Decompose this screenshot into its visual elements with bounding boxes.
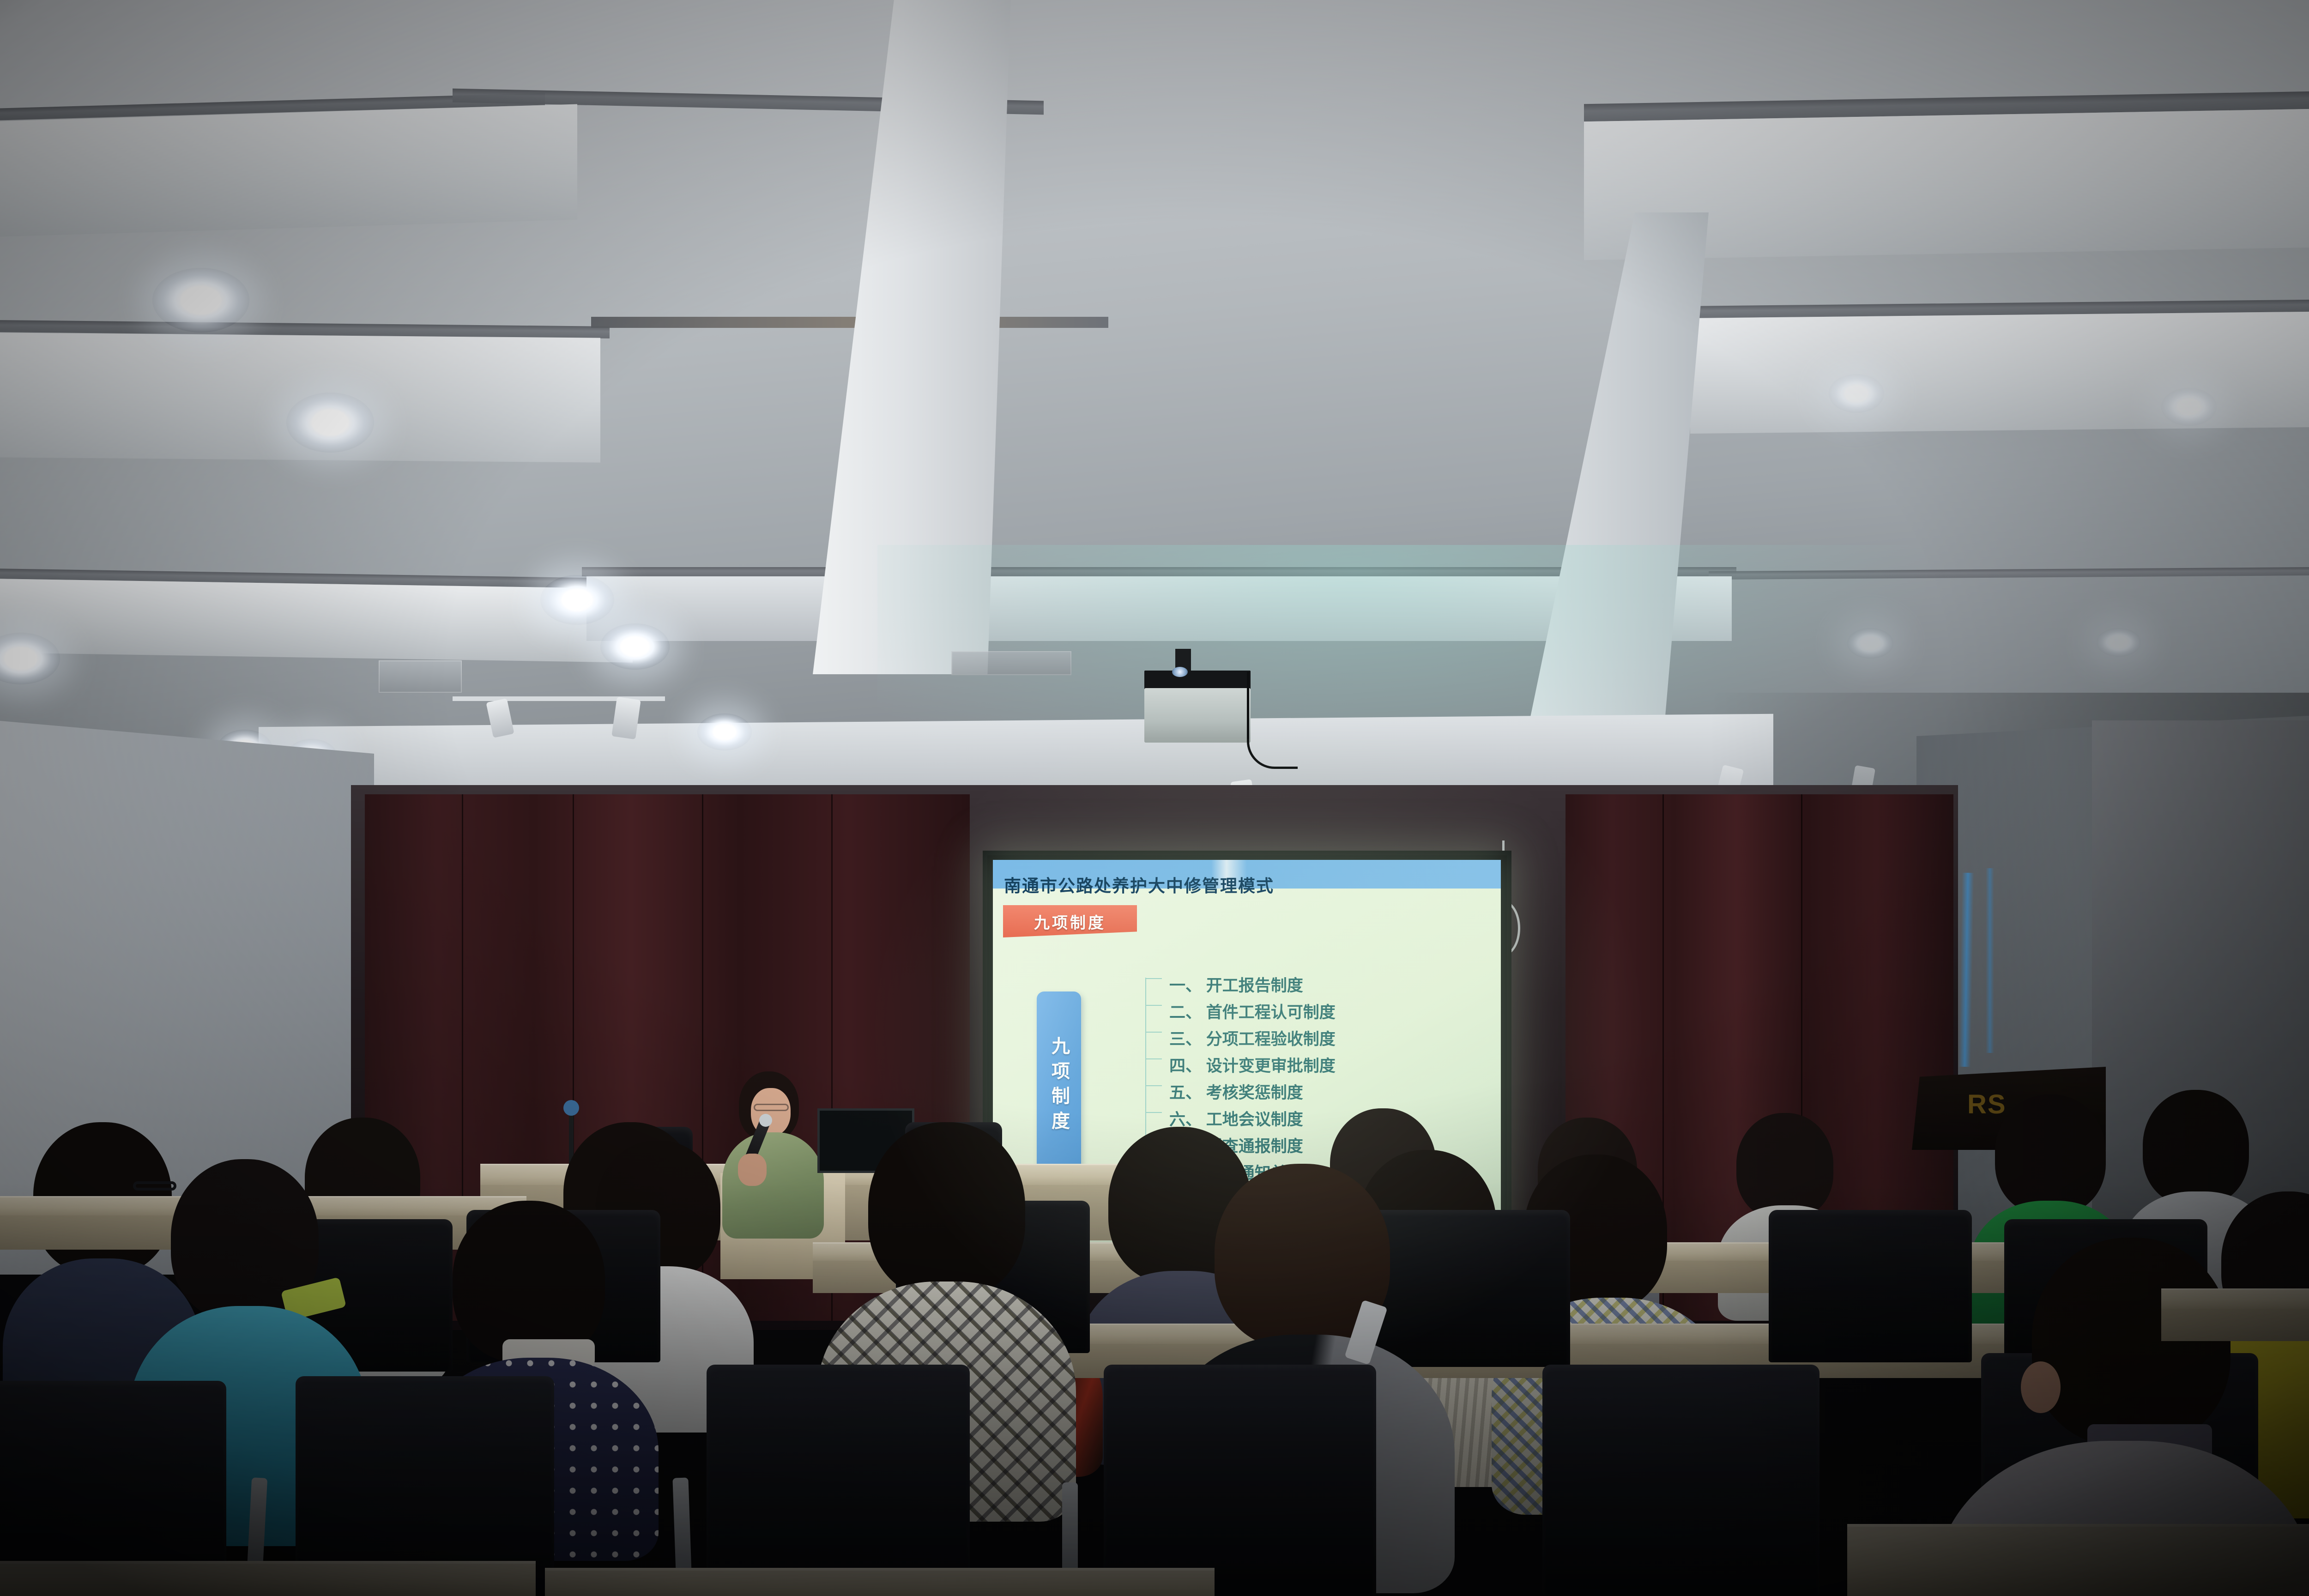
list-tick-icon — [1145, 1085, 1162, 1097]
slide-banner-label: 九项制度 — [1034, 910, 1106, 933]
presenter-glasses — [754, 1104, 789, 1111]
presenter-torso — [722, 1132, 824, 1239]
slide-list-item: 三、 分项工程验收制度 — [1145, 1024, 1487, 1051]
head — [2143, 1090, 2249, 1205]
list-tick-icon — [1145, 1058, 1162, 1070]
mid-desk-right-front — [2161, 1309, 2309, 1341]
foreground-desk-right — [1847, 1524, 2309, 1596]
glasses-icon — [133, 1181, 176, 1191]
mid-desk-right — [2161, 1288, 2309, 1309]
ceiling-beam-c — [0, 579, 633, 663]
list-tick-icon — [1145, 1112, 1162, 1124]
foreground-chair-5 — [1542, 1365, 1819, 1596]
ceiling-air-vent-2 — [951, 651, 1071, 675]
head — [1995, 1094, 2106, 1215]
list-tick-icon — [1145, 978, 1162, 990]
foreground-desk-left — [0, 1561, 536, 1596]
slide-list-item-text: 五、 考核奖惩制度 — [1169, 1080, 1303, 1103]
audience-chair-m4 — [1367, 1210, 1570, 1367]
slide-side-label-box: 九项制度 — [1037, 991, 1081, 1181]
foreground-desk-center — [545, 1568, 1215, 1596]
slide-list-item-text: 四、 设计变更审批制度 — [1169, 1053, 1336, 1076]
speaker-brand-label: RS — [1967, 1089, 2007, 1120]
projector-cable — [1247, 672, 1298, 769]
head — [2032, 1238, 2230, 1445]
slide-list-item: 六、 工地会议制度 — [1145, 1105, 1487, 1131]
head — [1736, 1113, 1833, 1219]
presenter-hand — [738, 1154, 767, 1186]
slide-list-item-text: 一、 开工报告制度 — [1169, 973, 1303, 996]
downlight-2 — [286, 393, 374, 453]
microphone-head-icon — [759, 1114, 772, 1127]
slide-list-item-text: 二、 首件工程认可制度 — [1169, 999, 1336, 1023]
slide-list-item-text: 六、 工地会议制度 — [1169, 1106, 1303, 1130]
slide-side-label: 九项制度 — [1046, 1036, 1072, 1136]
foreground-chair-4 — [1104, 1365, 1376, 1596]
slide-banner: 九项制度 — [1003, 905, 1137, 937]
slide-list-item: 四、 设计变更审批制度 — [1145, 1051, 1487, 1078]
conference-room-photo: RS 南通市公路处养护大中修管理模式 九项制度 九项制度 一、 开工报告制度 二… — [0, 0, 2309, 1596]
downlight-9 — [1829, 374, 1884, 413]
ceiling-air-vent — [379, 660, 462, 693]
head — [453, 1201, 605, 1362]
list-tick-icon — [1145, 1005, 1162, 1017]
audience-chair-m5 — [1769, 1210, 1972, 1362]
slide-list-item-text: 三、 分项工程验收制度 — [1169, 1026, 1336, 1050]
downlight-8 — [697, 713, 752, 750]
slide-list-item: 二、 首件工程认可制度 — [1145, 997, 1487, 1024]
projector-body — [1144, 688, 1251, 743]
downlight-3 — [540, 575, 614, 625]
ear — [2021, 1361, 2061, 1413]
foreground-chair-3 — [707, 1365, 970, 1596]
chair-armrest-2 — [672, 1477, 691, 1575]
downlight-11 — [1847, 628, 1893, 659]
chair-armrest-3 — [1062, 1482, 1078, 1575]
list-tick-icon — [1145, 1032, 1162, 1044]
door-edge-glow-2 — [1986, 868, 1994, 1053]
downlight-12 — [2097, 628, 2141, 657]
downlight-4 — [600, 623, 670, 670]
downlight-1 — [152, 268, 249, 332]
slide-list-item: 五、 考核奖惩制度 — [1145, 1078, 1487, 1105]
downlight-10 — [2161, 388, 2217, 426]
head — [868, 1122, 1025, 1298]
slide-title: 南通市公路处养护大中修管理模式 — [1004, 872, 1274, 897]
ceiling-beam-a — [0, 104, 577, 236]
slide-list-item: 一、 开工报告制度 — [1145, 971, 1487, 997]
table-microphone-capsule-icon — [563, 1100, 579, 1116]
ceiling-inlay-strip-4 — [591, 317, 1108, 328]
ceiling-beam-f — [1690, 311, 2309, 434]
projector-lens — [1172, 667, 1188, 677]
